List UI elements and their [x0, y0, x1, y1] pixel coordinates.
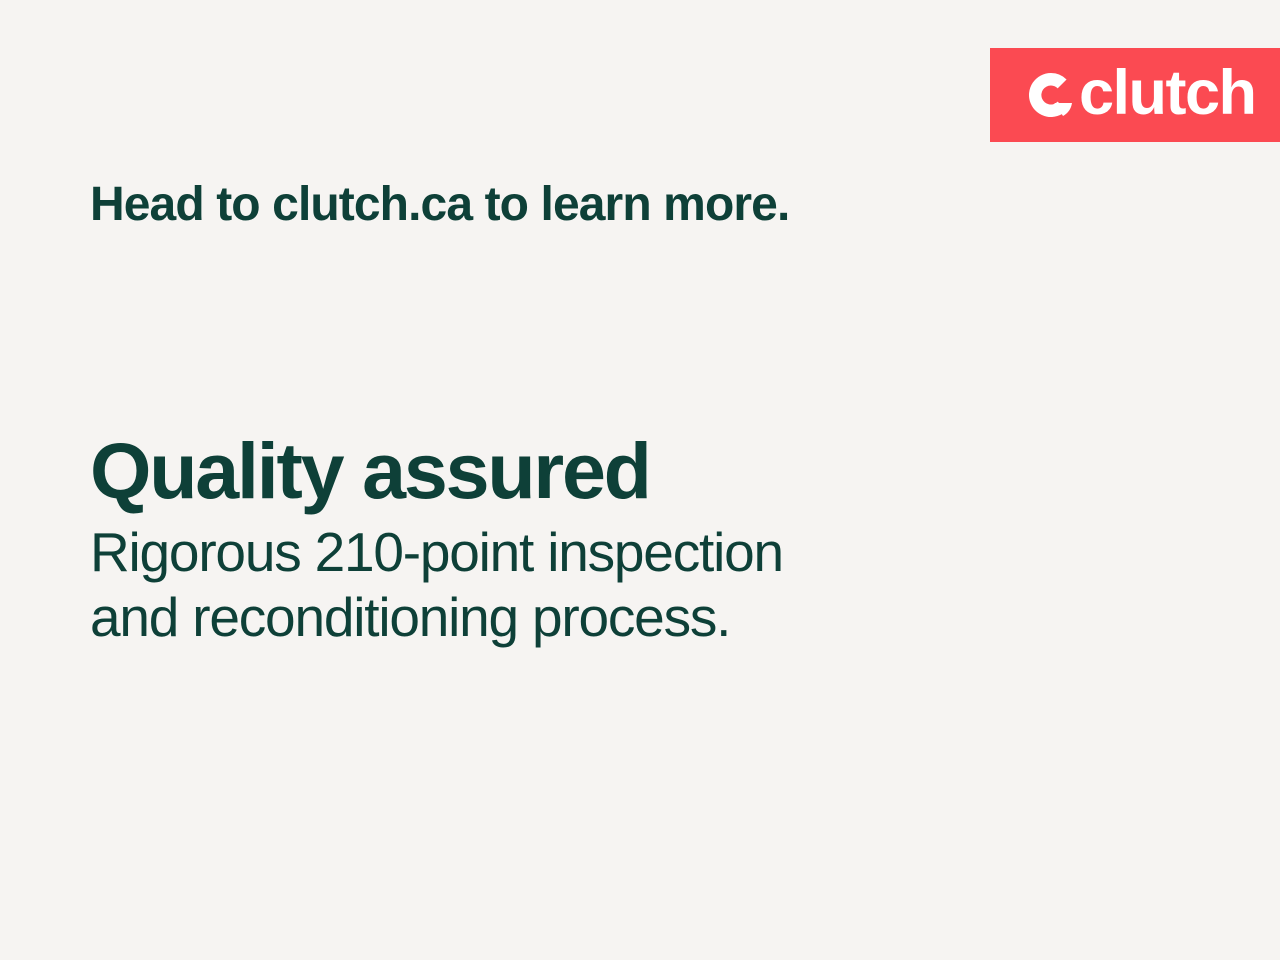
page-title: Quality assured [90, 430, 1090, 512]
tagline-text: Head to clutch.ca to learn more. [90, 178, 789, 232]
subline-line-2: and reconditioning process. [90, 585, 1090, 650]
subline-line-1: Rigorous 210-point inspection [90, 520, 1090, 585]
headline-block: Quality assured Rigorous 210-point inspe… [90, 430, 1090, 650]
clutch-c-mark-icon [1026, 70, 1076, 120]
logo-lockup: clutch [1026, 66, 1256, 125]
clutch-wordmark: clutch [1079, 62, 1256, 125]
clutch-logo-badge[interactable]: clutch [990, 48, 1280, 142]
promo-slide: clutch Head to clutch.ca to learn more. … [0, 0, 1280, 960]
subline-text: Rigorous 210-point inspection and recond… [90, 520, 1090, 650]
